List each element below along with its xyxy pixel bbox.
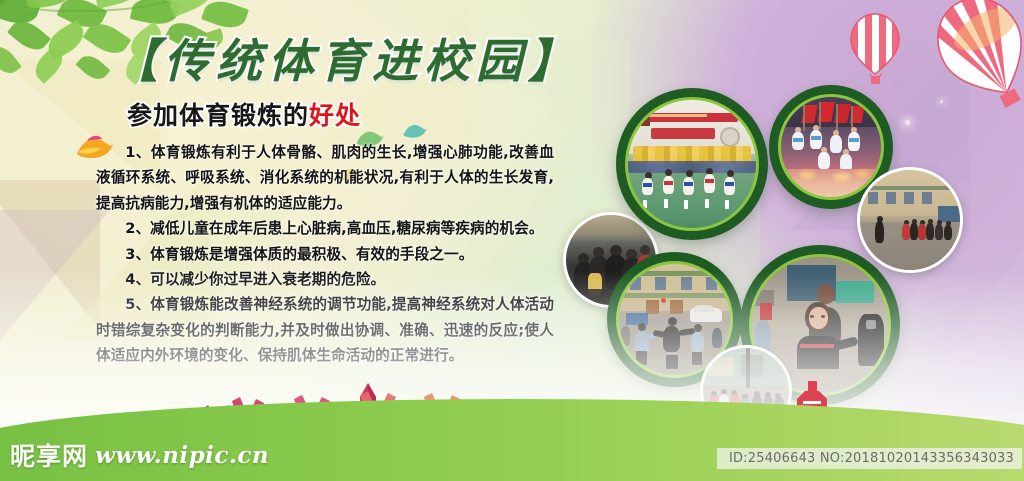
benefit-paragraph-2: 2、减低儿童在成年后患上心脏病,高血压,糖尿病等疾病的机会。 [96, 216, 554, 241]
benefit-paragraph-1: 1、体育锻炼有利于人体骨骼、肌肉的生长,增强心肺功能,改善血液循环系统、呼吸系统… [96, 140, 554, 216]
hot-air-balloon-large-icon [930, 0, 1024, 112]
watermark-brand-url: www.nipic.cn [95, 442, 269, 469]
poster-title: 【传统体育进校园】 [112, 25, 580, 91]
watermark-brand-cn: 昵享网 [10, 437, 88, 473]
photo-ring [625, 97, 759, 231]
watermark-id-line: ID:25406643 NO:20181020143356343033 [717, 448, 1022, 469]
watermark-left: 昵享网 www.nipic.cn [10, 437, 269, 473]
hot-air-balloon-small-icon [847, 12, 903, 90]
photo-cheerleading-performance[interactable] [616, 88, 768, 240]
poster-canvas: 【传统体育进校园】 参加体育锻炼的好处 1、体育锻炼有利于人体骨骼、肌肉的生长,… [0, 0, 1024, 481]
poster-subtitle: 参加体育锻炼的好处 [127, 96, 361, 132]
subtitle-highlight-text: 好处 [309, 101, 361, 130]
subtitle-plain-text: 参加体育锻炼的 [127, 101, 309, 130]
photo-students-lineup-image [860, 170, 960, 270]
benefit-paragraph-3: 3、体育锻炼是增强体质的最积极、有效的手段之一。 [96, 242, 554, 267]
bird-icon-teal [402, 122, 428, 139]
photo-cheerleading-image [628, 100, 756, 228]
poster-title-text: 【传统体育进校园】 [112, 25, 580, 91]
